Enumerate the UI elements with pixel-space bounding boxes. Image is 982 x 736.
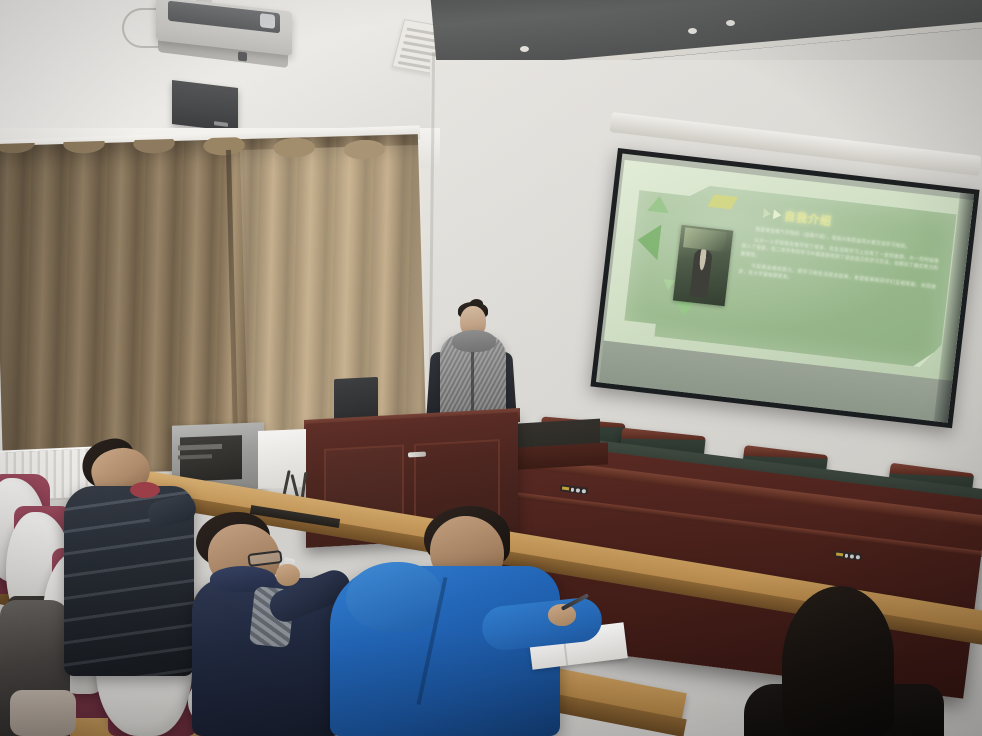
chevron-right-icon [773,209,782,220]
slide-triangle-decor [647,195,671,213]
student2-hand [276,564,300,586]
screen-surface: 自我介绍 我是来自电气学院的（自我介绍），很高兴有机会同大家交流学习经验。 从大… [596,154,974,423]
wall-speaker [172,80,238,132]
classroom-photo: 自我介绍 我是来自电气学院的（自我介绍），很高兴有机会同大家交流学习经验。 从大… [0,0,982,736]
projection-screen[interactable]: 自我介绍 我是来自电气学院的（自我介绍），很高兴有机会同大家交流学习经验。 从大… [590,148,979,428]
ceiling-fixture-dot [726,20,735,26]
student1-collar [130,482,160,498]
slide-corner-decor [913,344,941,369]
student3-hood [346,562,442,632]
presentation-slide: 自我介绍 我是来自电气学院的（自我介绍），很高兴有机会同大家交流学习经验。 从大… [623,178,957,370]
projector-foot [238,51,247,61]
far-left-student-legs [10,690,76,736]
desk-microphone[interactable] [408,452,426,458]
ceiling-fixture-dot [520,46,529,52]
speaker-logo [214,121,228,127]
ceiling-fixture-dot [688,28,697,34]
slide-inset-photo [673,225,733,306]
photo-highlight [683,227,727,252]
slide-triangle-decor [673,301,694,317]
slide-triangle-decor [636,222,662,260]
photo-person-figure [689,249,712,299]
student4-head [782,586,894,736]
presenter-hood [452,330,496,352]
projector-lens [260,13,275,29]
chevron-right-icon [763,208,771,219]
